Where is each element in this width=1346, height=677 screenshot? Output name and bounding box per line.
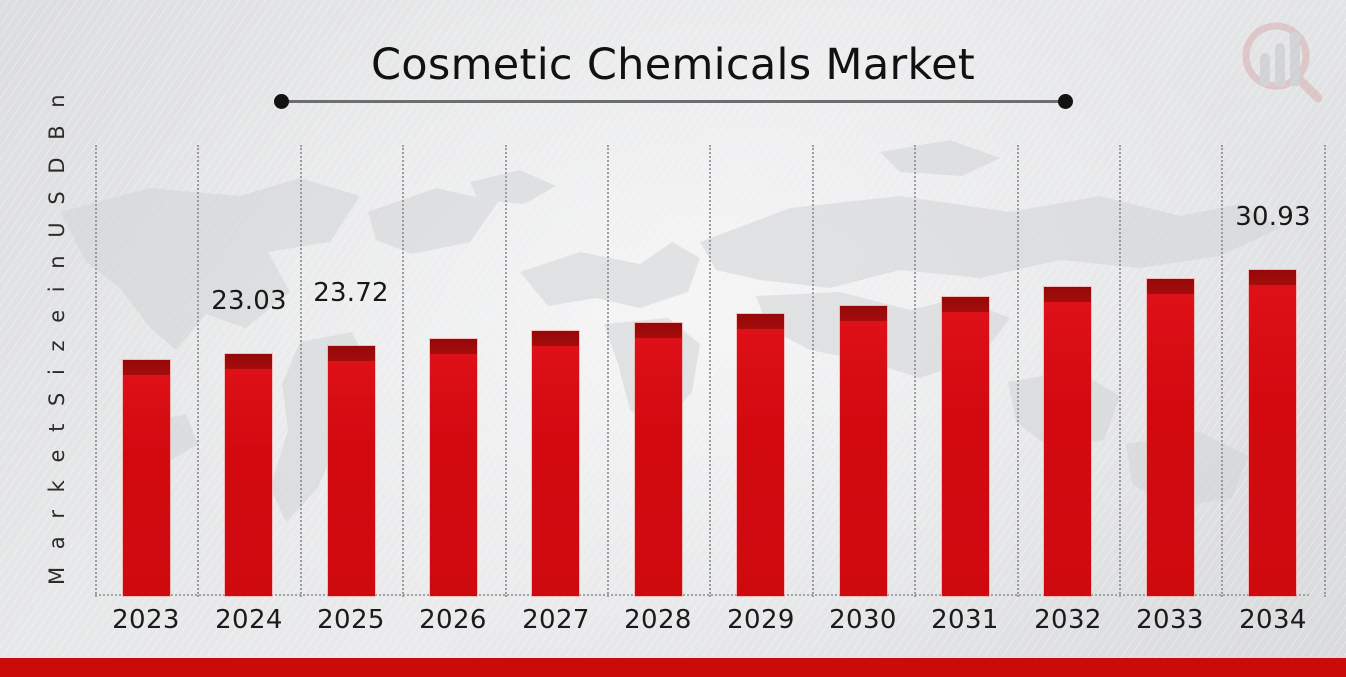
axis-baseline [95, 594, 1309, 596]
bar-cap [1249, 270, 1296, 285]
bar-cap [942, 297, 989, 312]
bar-cap [123, 360, 170, 375]
value-label-2034: 30.93 [1203, 202, 1343, 232]
bar-cap [1044, 287, 1091, 302]
bottom-accent-strip [0, 658, 1346, 677]
gridline-vertical [1119, 145, 1121, 597]
gridline-vertical [607, 145, 609, 597]
bar-cap [532, 331, 579, 346]
bar-cap [430, 339, 477, 354]
bar-2025[interactable] [328, 346, 375, 596]
gridline-vertical [300, 145, 302, 597]
x-tick-label-2034: 2034 [1203, 605, 1343, 635]
bar-2023[interactable] [123, 360, 170, 596]
rule-dot-right [1058, 94, 1073, 109]
bar-cap [737, 314, 784, 329]
gridline-vertical [197, 145, 199, 597]
page-title: Cosmetic Chemicals Market [0, 40, 1346, 90]
gridline-vertical [402, 145, 404, 597]
bar-cap [840, 306, 887, 321]
gridline-vertical [914, 145, 916, 597]
rule-dot-left [274, 94, 289, 109]
bar-2026[interactable] [430, 339, 477, 596]
bar-cap [225, 354, 272, 369]
gridline-vertical [95, 145, 97, 597]
title-underline-rule [281, 100, 1066, 103]
value-label-2025: 23.72 [281, 278, 421, 308]
bar-2032[interactable] [1044, 287, 1091, 596]
bar-2027[interactable] [532, 331, 579, 596]
bar-cap [328, 346, 375, 361]
gridline-vertical [812, 145, 814, 597]
bar-2031[interactable] [942, 297, 989, 596]
y-axis-title: M a r k e t S i z e i n U S D B n [45, 155, 69, 585]
bar-2030[interactable] [840, 306, 887, 596]
gridline-vertical [709, 145, 711, 597]
chart-canvas: Cosmetic Chemicals Market M a r k e t S … [0, 0, 1346, 677]
bar-2028[interactable] [635, 323, 682, 596]
gridline-vertical [505, 145, 507, 597]
bar-2024[interactable] [225, 354, 272, 596]
plot-area [95, 145, 1303, 597]
bar-2029[interactable] [737, 314, 784, 596]
bar-cap [635, 323, 682, 338]
gridline-vertical [1017, 145, 1019, 597]
bar-cap [1147, 279, 1194, 294]
bar-2034[interactable] [1249, 270, 1296, 596]
bar-2033[interactable] [1147, 279, 1194, 596]
